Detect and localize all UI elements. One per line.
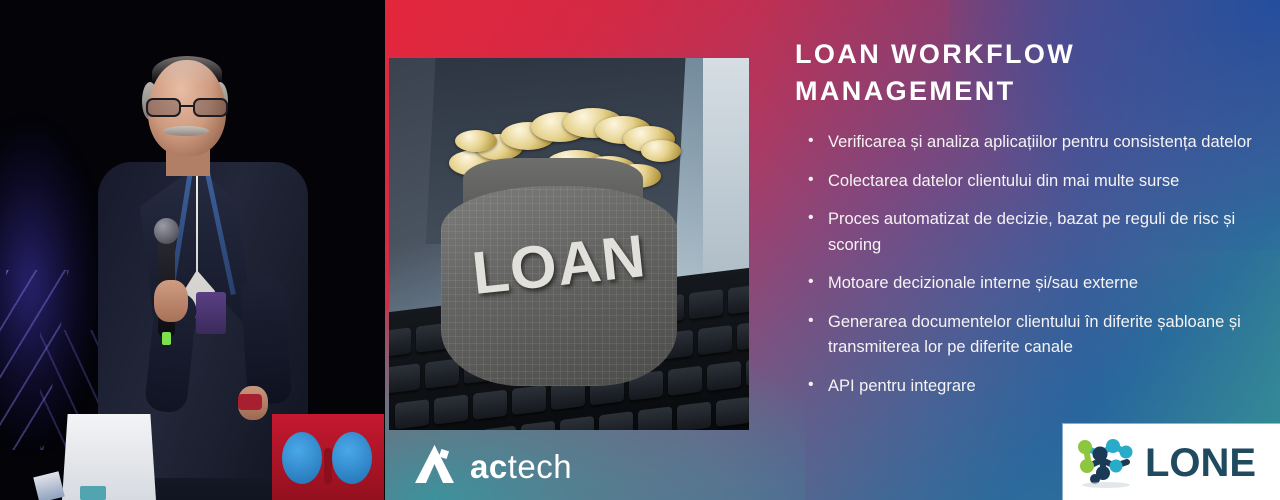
bullet-item: API pentru integrare (800, 374, 1270, 400)
page-title: LOAN WORKFLOW MANAGEMENT (795, 36, 1265, 111)
presentation-clicker (238, 394, 262, 410)
speaker-video-panel (0, 0, 385, 500)
bullet-item: Verificarea și analiza aplicațiilor pent… (800, 130, 1270, 156)
speaker-badge (196, 292, 226, 334)
presentation-screenshot: LOAN LOAN WORKFLOW MANAGEMENT Verificare… (0, 0, 1280, 500)
stage-podium (62, 414, 156, 500)
actech-word-light: tech (508, 448, 572, 485)
lone-molecule-icon (1073, 432, 1139, 495)
speaker-hand-left (154, 280, 188, 322)
bullet-item: Colectarea datelor clientului din mai mu… (800, 169, 1270, 195)
speaker-hair-top (152, 56, 222, 90)
speaker-moustache (163, 126, 209, 136)
bullet-item: Proces automatizat de decizie, bazat pe … (800, 207, 1270, 258)
actech-wordmark: actech (470, 450, 572, 483)
lone-wordmark: LONE (1145, 443, 1256, 483)
slide-photo: LOAN (389, 58, 749, 430)
bullet-item: Motoare decizionale interne și/sau exter… (800, 271, 1270, 297)
podium-monitor (80, 486, 106, 500)
microphone-led (162, 332, 171, 345)
speaker-glasses-icon (144, 98, 232, 117)
feature-bullet-list: Verificarea și analiza aplicațiilor pent… (800, 130, 1270, 413)
stage-prop-red-box (272, 414, 384, 500)
actech-logo: actech (413, 443, 572, 490)
stage-prop-white (33, 471, 65, 500)
bullet-item: Generarea documentelor clientului în dif… (800, 310, 1270, 361)
lone-logo: LONE (1063, 424, 1280, 500)
actech-mountain-icon (413, 443, 457, 490)
microphone-head-icon (154, 218, 179, 244)
actech-word-bold: ac (470, 448, 508, 485)
slide-panel: LOAN LOAN WORKFLOW MANAGEMENT Verificare… (385, 0, 1280, 500)
